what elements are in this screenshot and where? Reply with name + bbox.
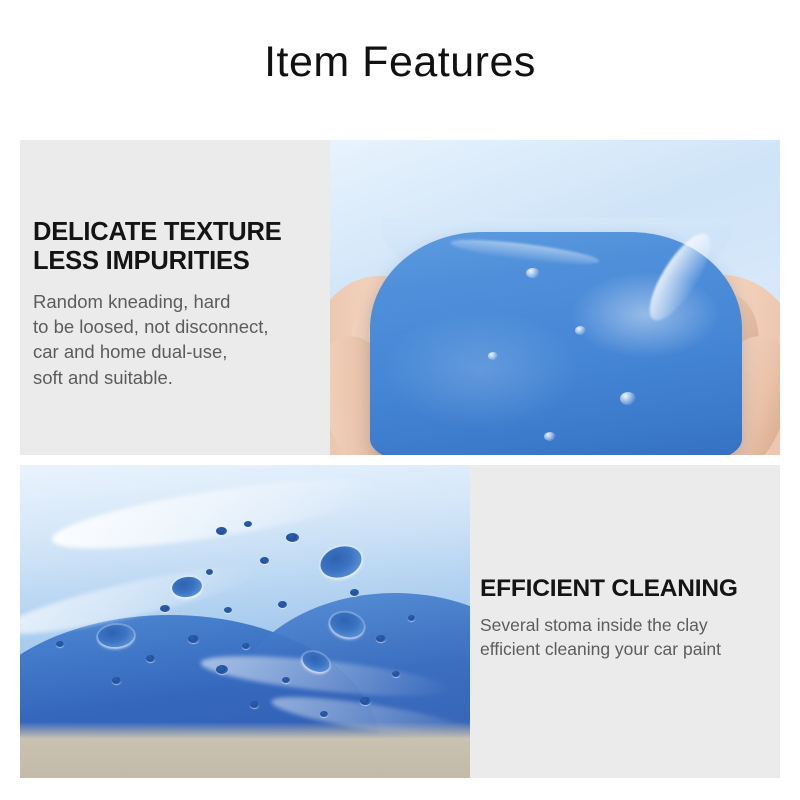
clay-pore — [160, 605, 170, 612]
clay-pore — [350, 589, 359, 596]
clay-pore — [242, 643, 250, 649]
clay-highlight-ridge — [48, 465, 381, 562]
clay-pore — [146, 655, 155, 662]
clay-pore — [282, 677, 290, 683]
clay-pore — [250, 701, 259, 708]
water-droplet — [526, 268, 540, 278]
water-droplet — [544, 432, 556, 441]
clay-pore — [216, 527, 227, 535]
clay-pore — [316, 541, 365, 583]
feature-panel-efficient-cleaning: EFFICIENT CLEANING Several stoma inside … — [20, 465, 780, 778]
clay-pore — [260, 557, 269, 564]
table-surface — [20, 722, 470, 778]
clay-pore — [392, 671, 400, 677]
clay-pore — [56, 641, 64, 647]
clay-pore — [224, 607, 232, 613]
clay-pore — [286, 533, 299, 542]
photo-hands-squeezing-clay — [330, 140, 780, 455]
feature-text-block: EFFICIENT CLEANING Several stoma inside … — [470, 465, 780, 778]
clay-pore — [408, 615, 415, 621]
clay-pore — [206, 569, 213, 575]
water-droplet — [620, 392, 636, 405]
page-title: Item Features — [0, 38, 800, 87]
clay-pore — [188, 635, 199, 643]
water-droplet — [575, 326, 586, 335]
feature-text-block: DELICATE TEXTURE LESS IMPURITIES Random … — [20, 140, 330, 455]
clay-pore — [112, 677, 121, 684]
feature-body: Random kneading, hard to be loosed, not … — [33, 289, 330, 390]
clay-pore — [320, 711, 328, 717]
feature-heading: DELICATE TEXTURE LESS IMPURITIES — [33, 218, 330, 275]
clay-pore — [278, 601, 287, 608]
photo-clay-closeup-pores — [20, 465, 470, 778]
feature-body: Several stoma inside the clay efficient … — [480, 614, 780, 661]
feature-panel-delicate-texture: DELICATE TEXTURE LESS IMPURITIES Random … — [20, 140, 780, 455]
clay-pore — [360, 697, 371, 705]
water-droplet — [488, 352, 498, 360]
clay-pore — [244, 521, 252, 527]
feature-heading: EFFICIENT CLEANING — [480, 575, 780, 602]
clay-pore — [216, 665, 228, 674]
clay-pore — [376, 635, 386, 642]
